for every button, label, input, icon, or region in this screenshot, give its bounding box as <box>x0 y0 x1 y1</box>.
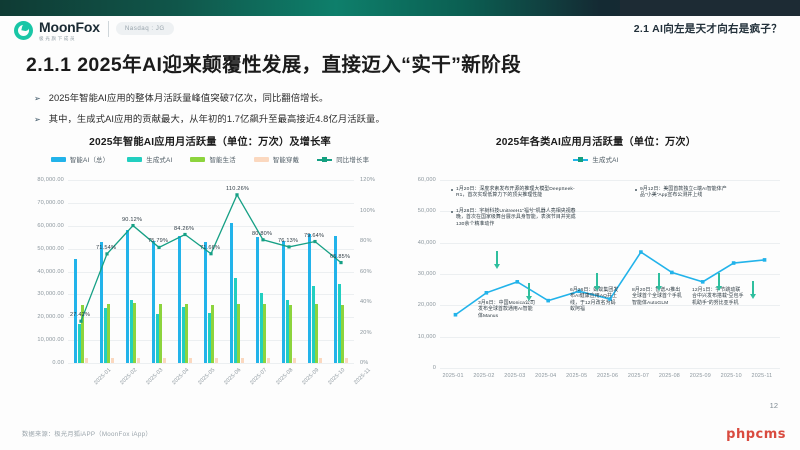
y2-axis-tick-label: 20% <box>360 330 372 336</box>
annotation-bullet-icon <box>635 189 637 191</box>
y-axis-tick-label: 60,000 <box>400 177 436 183</box>
legend-label: 智能生活 <box>209 155 235 164</box>
x-axis-tick-label: 2025-09 <box>690 373 711 379</box>
annotation-arrow-icon <box>496 251 498 265</box>
data-label: 79.64% <box>304 233 324 239</box>
left-chart-plot: 0.0010,000.0020,000.0030,000.0040,000.00… <box>68 180 354 363</box>
y-axis-tick-label: 50,000.00 <box>22 246 64 252</box>
x-axis-tick-label: 2025-08 <box>275 367 294 386</box>
list-item: ➢ 其中，生成式AI应用的贡献最大，从年初的1.7亿飙升至最高接近4.8亿月活跃… <box>34 113 734 126</box>
x-axis-tick-label: 2025-01 <box>442 373 463 379</box>
x-axis-tick-label: 2025-03 <box>504 373 525 379</box>
data-label: 80.80% <box>252 231 272 237</box>
brand-name: MoonFox <box>39 20 100 34</box>
y-axis-tick-label: 40,000 <box>400 240 436 246</box>
y2-axis-tick-label: 100% <box>360 208 375 214</box>
y-axis-tick-label: 20,000 <box>400 302 436 308</box>
x-axis-tick-label: 2025-06 <box>223 367 242 386</box>
bullet-text: 2025年智能AI应用的整体月活跃量峰值突破7亿次，同比翻倍增长。 <box>49 92 329 105</box>
legend-item: 智能穿戴 <box>254 155 299 164</box>
legend-label: 生成式AI <box>146 155 172 164</box>
x-axis-tick-label: 2025-07 <box>249 367 268 386</box>
y-axis-tick-label: 10,000 <box>400 334 436 340</box>
legend-line-swatch <box>317 159 332 161</box>
source-note: 数据来源：极光月狐iAPP（MoonFox iApp） <box>22 429 152 438</box>
y2-axis-tick-label: 0% <box>360 360 369 366</box>
y-axis-tick-label: 60,000.00 <box>22 223 64 229</box>
data-label: 76.13% <box>278 238 298 244</box>
y-axis-tick-label: 80,000.00 <box>22 177 64 183</box>
annotation-bullet-icon <box>451 211 453 213</box>
left-chart-legend: 智能AI（总）生成式AI智能生活智能穿戴同比增长率 <box>22 155 398 168</box>
moonfox-logo-icon <box>14 21 33 40</box>
legend-color-swatch <box>51 157 66 162</box>
y-axis-tick-label: 50,000 <box>400 208 436 214</box>
data-label: 71.66% <box>200 245 220 251</box>
annotation-arrow-icon <box>596 273 598 287</box>
legend-color-swatch <box>127 157 142 162</box>
legend-item: 智能AI（总） <box>51 155 109 164</box>
x-axis-tick-label: 2025-04 <box>171 367 190 386</box>
page-number: 12 <box>770 401 778 410</box>
data-label: 84.26% <box>174 226 194 232</box>
chart-annotation: 3月6日：中国Monica公司发布全球首款通用AI智能体Manus <box>478 301 536 320</box>
right-chart-title: 2025年各类AI应用月活跃量（单位：万次） <box>400 133 792 148</box>
x-axis-tick-label: 2025-06 <box>597 373 618 379</box>
gridline <box>68 363 354 364</box>
x-axis-tick-label: 2025-02 <box>473 373 494 379</box>
brand-subtitle: 极光旗下成员 <box>39 36 100 42</box>
bullet-marker-icon: ➢ <box>34 92 41 105</box>
slide-root: MoonFox 极光旗下成员 Nasdaq : JG 2.1 AI向左是天才向右… <box>0 0 800 450</box>
y-axis-tick-label: 10,000.00 <box>22 337 64 343</box>
legend-line-swatch <box>573 159 588 161</box>
legend-label: 智能穿戴 <box>273 155 299 164</box>
x-axis-tick-label: 2025-02 <box>119 367 138 386</box>
x-axis-tick-label: 2025-10 <box>327 367 346 386</box>
y-axis-tick-label: 20,000.00 <box>22 314 64 320</box>
top-accent-bar-right <box>620 0 800 16</box>
legend-item: 生成式AI <box>573 155 618 164</box>
left-chart-title: 2025年智能AI应用月活跃量（单位：万次）及增长率 <box>22 133 398 148</box>
list-item: ➢ 2025年智能AI应用的整体月活跃量峰值突破7亿次，同比翻倍增长。 <box>34 92 734 105</box>
bullet-text: 其中，生成式AI应用的贡献最大，从年初的1.7亿飙升至最高接近4.8亿月活跃量。 <box>49 113 385 126</box>
x-axis-tick-label: 2025-11 <box>752 373 773 379</box>
y-axis-tick-label: 0.00 <box>22 360 64 366</box>
data-label: 75.79% <box>148 238 168 244</box>
brand-text: MoonFox 极光旗下成员 <box>39 20 100 42</box>
y-axis-tick-label: 30,000 <box>400 271 436 277</box>
data-label: 65.85% <box>330 254 350 260</box>
left-chart-panel: 2025年智能AI应用月活跃量（单位：万次）及增长率 智能AI（总）生成式AI智… <box>22 133 398 383</box>
x-axis-tick-label: 2025-05 <box>566 373 587 379</box>
data-label: 71.54% <box>96 245 116 251</box>
x-axis-tick-label: 2025-07 <box>628 373 649 379</box>
right-chart-legend: 生成式AI <box>400 155 792 168</box>
x-axis-tick-label: 2025-08 <box>659 373 680 379</box>
x-axis-tick-label: 2025-04 <box>535 373 556 379</box>
ticker-badge: Nasdaq : JG <box>116 22 174 35</box>
annotation-arrow-icon <box>658 273 660 287</box>
y2-axis-tick-label: 60% <box>360 269 372 275</box>
data-label: 110.26% <box>226 186 249 192</box>
legend-color-swatch <box>254 157 269 162</box>
section-label: 2.1 AI向左是天才向右是疯子？ <box>634 21 782 36</box>
data-label: 27.42% <box>70 312 90 318</box>
annotation-bullet-icon <box>451 189 453 191</box>
chart-annotation: 6月26日：蚂蚁集团发布AI健康应用AQ并上线，于12月改名为蚂蚁阿福 <box>570 288 620 314</box>
y-axis-tick-label: 40,000.00 <box>22 269 64 275</box>
legend-label: 生成式AI <box>592 155 618 164</box>
x-axis-tick-label: 2025-03 <box>145 367 164 386</box>
brand-block: MoonFox 极光旗下成员 Nasdaq : JG <box>14 20 174 42</box>
x-axis-tick-label: 2025-01 <box>93 367 112 386</box>
x-axis-tick-label: 2025-09 <box>301 367 320 386</box>
data-label: 90.12% <box>122 217 142 223</box>
legend-item: 生成式AI <box>127 155 172 164</box>
y2-axis-tick-label: 80% <box>360 238 372 244</box>
legend-item: 同比增长率 <box>317 155 369 164</box>
y-axis-tick-label: 30,000.00 <box>22 291 64 297</box>
annotation-arrow-icon <box>718 273 720 287</box>
legend-color-swatch <box>190 157 205 162</box>
legend-label: 智能AI（总） <box>70 155 109 164</box>
chart-annotation: 1月28日：宇树科技UnitreeH1“福兮”机器人亮相央视春晚，首次在国家级舞… <box>456 209 576 228</box>
y2-axis-tick-label: 40% <box>360 299 372 305</box>
x-axis-tick-label: 2025-10 <box>721 373 742 379</box>
gridline <box>440 368 780 369</box>
bullet-marker-icon: ➢ <box>34 113 41 126</box>
chart-annotation: 1月20日：深度求索发布开源的推理大模型DeepSeek-R1，首次实现低算力下… <box>456 187 576 200</box>
y-axis-tick-label: 70,000.00 <box>22 200 64 206</box>
annotation-arrow-icon <box>528 283 530 297</box>
legend-label: 同比增长率 <box>336 155 369 164</box>
chart-annotation: 9月12日：美国首款独立C端AI智能体产品“小美”App宣布公测并上线 <box>640 187 735 200</box>
right-chart-panel: 2025年各类AI应用月活跃量（单位：万次） 生成式AI 010,00020,0… <box>400 133 792 393</box>
y-axis-tick-label: 0 <box>400 365 436 371</box>
legend-item: 智能生活 <box>190 155 235 164</box>
page-title: 2.1.1 2025年AI迎来颠覆性发展，直接迈入“实干”新阶段 <box>26 48 521 77</box>
y2-axis-tick-label: 120% <box>360 177 375 183</box>
growth-rate-line <box>68 180 354 363</box>
x-axis-tick-label: 2025-11 <box>353 367 372 386</box>
annotation-arrow-icon <box>752 281 754 295</box>
watermark: phpcms <box>726 427 786 442</box>
bullet-list: ➢ 2025年智能AI应用的整体月活跃量峰值突破7亿次，同比翻倍增长。 ➢ 其中… <box>34 92 734 134</box>
x-axis-tick-label: 2025-05 <box>197 367 216 386</box>
brand-divider <box>108 21 109 37</box>
